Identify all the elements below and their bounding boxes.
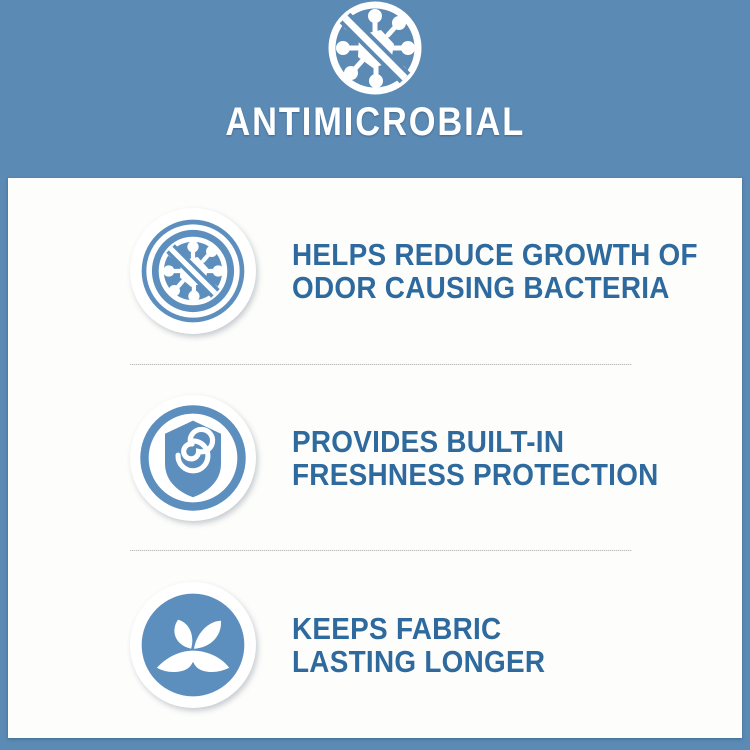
header-banner: ANTIMICROBIAL — [0, 0, 750, 178]
feature-icon-badge — [130, 582, 256, 708]
feature-text-line2: ODOR CAUSING BACTERIA — [292, 271, 698, 304]
antimicrobial-infographic: ANTIMICROBIAL — [0, 0, 750, 750]
feature-text-line1: PROVIDES BUILT-IN — [292, 425, 659, 458]
feature-icon-badge — [130, 395, 256, 521]
feature-text-line1: HELPS REDUCE GROWTH OF — [292, 238, 698, 271]
feature-row-bacteria: HELPS REDUCE GROWTH OF ODOR CAUSING BACT… — [8, 178, 742, 365]
features-panel: HELPS REDUCE GROWTH OF ODOR CAUSING BACT… — [8, 178, 742, 738]
feature-text-line2: LASTING LONGER — [292, 645, 545, 678]
feature-text: KEEPS FABRIC LASTING LONGER — [292, 612, 545, 678]
shield-swirl-icon — [137, 402, 249, 514]
no-germ-circle-icon — [137, 215, 249, 327]
feature-row-freshness: PROVIDES BUILT-IN FRESHNESS PROTECTION — [8, 365, 742, 552]
leaf-sprout-icon — [137, 589, 249, 701]
features-list: HELPS REDUCE GROWTH OF ODOR CAUSING BACT… — [8, 178, 742, 738]
feature-icon-badge — [130, 208, 256, 334]
no-germ-icon — [320, 0, 430, 98]
feature-text: HELPS REDUCE GROWTH OF ODOR CAUSING BACT… — [292, 238, 698, 304]
feature-text-line2: FRESHNESS PROTECTION — [292, 458, 659, 491]
feature-row-fabric: KEEPS FABRIC LASTING LONGER — [8, 551, 742, 738]
feature-text: PROVIDES BUILT-IN FRESHNESS PROTECTION — [292, 425, 659, 491]
feature-text-line1: KEEPS FABRIC — [292, 612, 545, 645]
page-title: ANTIMICROBIAL — [225, 100, 525, 144]
